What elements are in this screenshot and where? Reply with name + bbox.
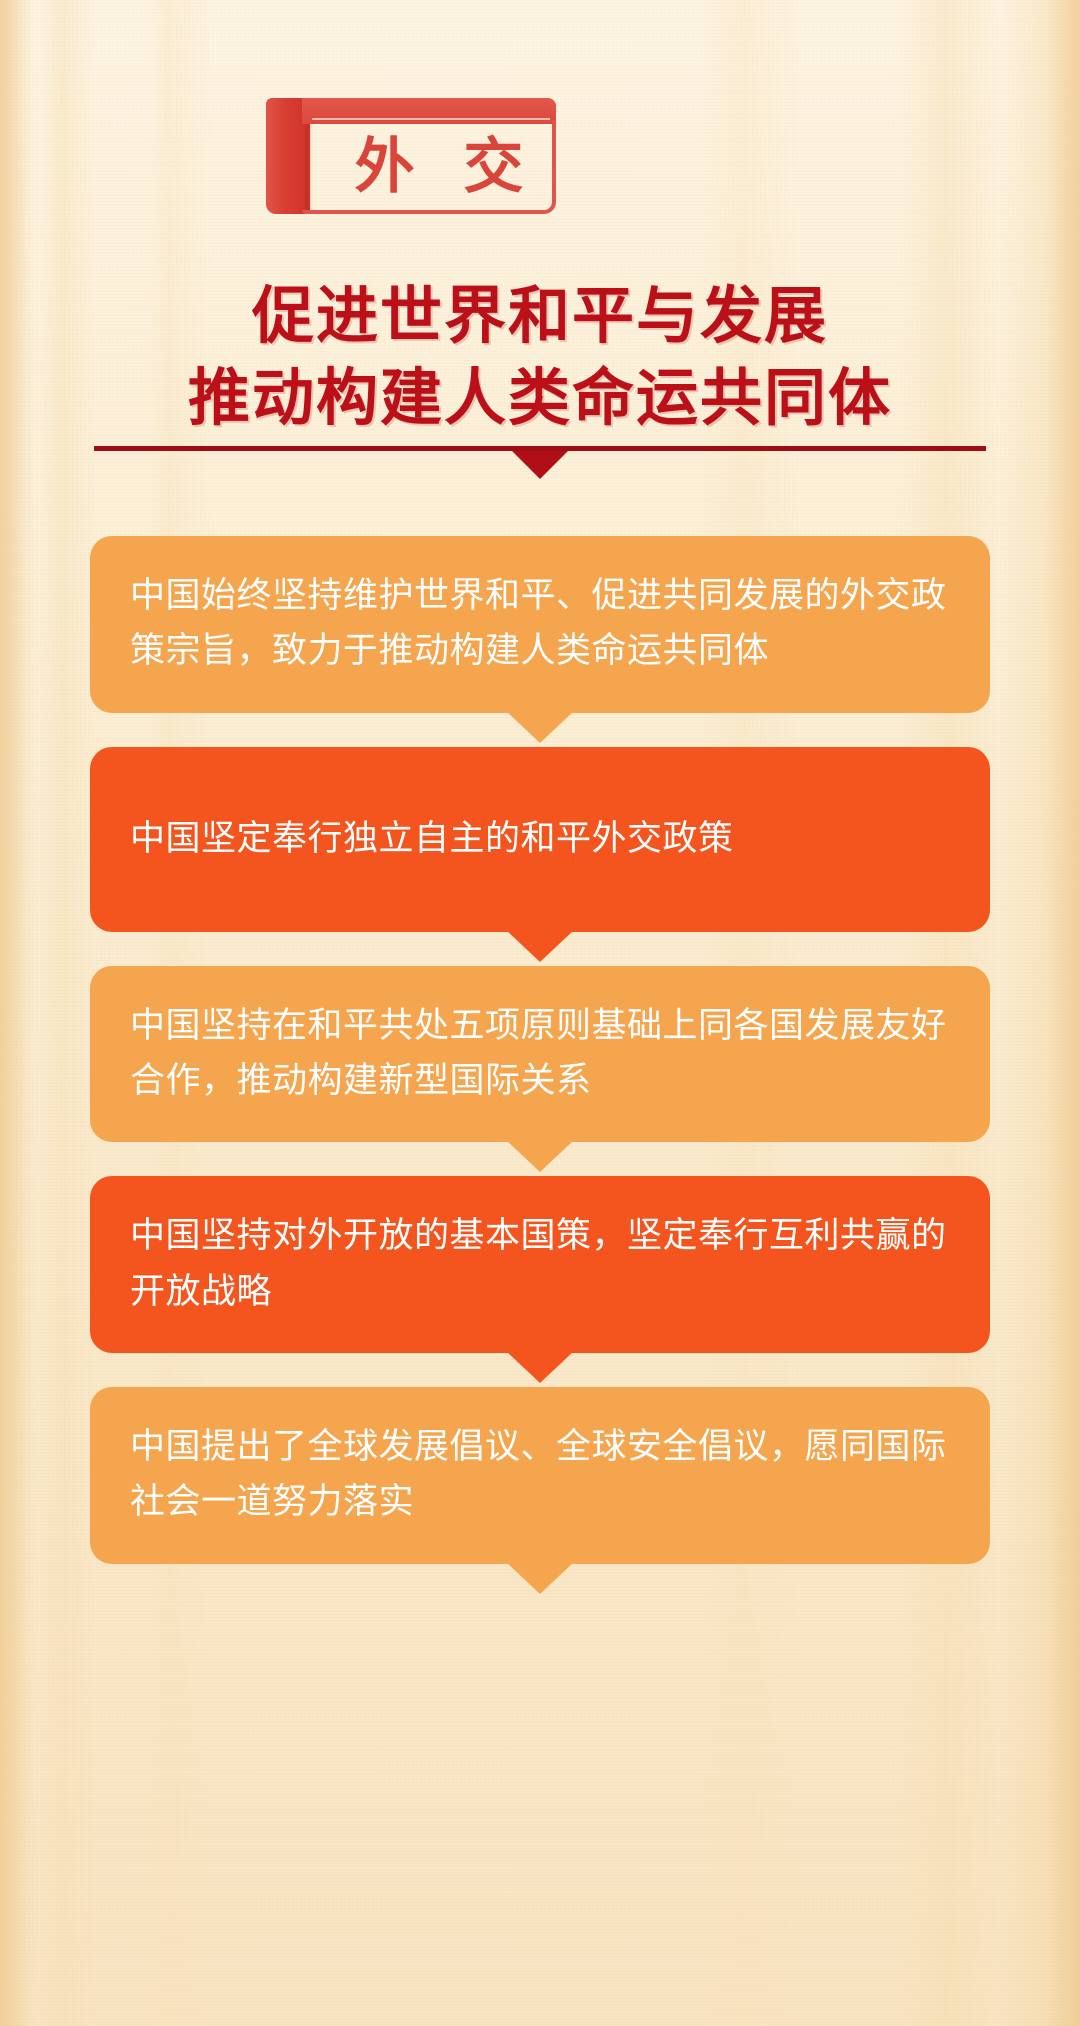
title-line-1: 促进世界和平与发展 [0, 276, 1080, 358]
statement-card-4-text: 中国坚持对外开放的基本国策，坚定奉行互利共赢的开放战略 [130, 1208, 950, 1319]
page-title: 促进世界和平与发展 推动构建人类命运共同体 [0, 276, 1080, 441]
poster-canvas: 外 交 促进世界和平与发展 推动构建人类命运共同体 中国始终坚持维护世界和平、促… [0, 0, 1080, 2026]
statement-card-3-text: 中国坚持在和平共处五项原则基础上同各国发展友好合作，推动构建新型国际关系 [130, 998, 950, 1109]
statement-card-2-text: 中国坚定奉行独立自主的和平外交政策 [130, 811, 950, 866]
statement-card-3[interactable]: 中国坚持在和平共处五项原则基础上同各国发展友好合作，推动构建新型国际关系 [90, 966, 990, 1143]
statement-card-5-text: 中国提出了全球发展倡议、全球安全倡议，愿同国际社会一道努力落实 [130, 1419, 950, 1530]
statement-card-1[interactable]: 中国始终坚持维护世界和平、促进共同发展的外交政策宗旨，致力于推动构建人类命运共同… [90, 536, 990, 713]
statement-card-1-text: 中国始终坚持维护世界和平、促进共同发展的外交政策宗旨，致力于推动构建人类命运共同… [130, 568, 950, 679]
list-item: 中国坚持对外开放的基本国策，坚定奉行互利共赢的开放战略 [90, 1176, 990, 1353]
statement-card-5[interactable]: 中国提出了全球发展倡议、全球安全倡议，愿同国际社会一道努力落实 [90, 1387, 990, 1564]
statement-card-2[interactable]: 中国坚定奉行独立自主的和平外交政策 [90, 747, 990, 932]
statement-card-list: 中国始终坚持维护世界和平、促进共同发展的外交政策宗旨，致力于推动构建人类命运共同… [0, 536, 1080, 1598]
section-badge: 外 交 [266, 98, 556, 214]
divider-caret-down-icon [512, 451, 568, 479]
card-1-caret-down-icon [506, 711, 574, 743]
list-item: 中国坚持在和平共处五项原则基础上同各国发展友好合作，推动构建新型国际关系 [90, 966, 990, 1143]
card-2-caret-down-icon [506, 930, 574, 962]
list-item: 中国始终坚持维护世界和平、促进共同发展的外交政策宗旨，致力于推动构建人类命运共同… [90, 536, 990, 713]
card-3-caret-down-icon [506, 1140, 574, 1172]
card-4-caret-down-icon [506, 1351, 574, 1383]
badge-label: 外 交 [322, 124, 556, 210]
card-5-caret-down-icon [506, 1562, 574, 1594]
list-item: 中国提出了全球发展倡议、全球安全倡议，愿同国际社会一道努力落实 [90, 1387, 990, 1564]
title-line-2: 推动构建人类命运共同体 [0, 358, 1080, 440]
list-item: 中国坚定奉行独立自主的和平外交政策 [90, 747, 990, 932]
statement-card-4[interactable]: 中国坚持对外开放的基本国策，坚定奉行互利共赢的开放战略 [90, 1176, 990, 1353]
